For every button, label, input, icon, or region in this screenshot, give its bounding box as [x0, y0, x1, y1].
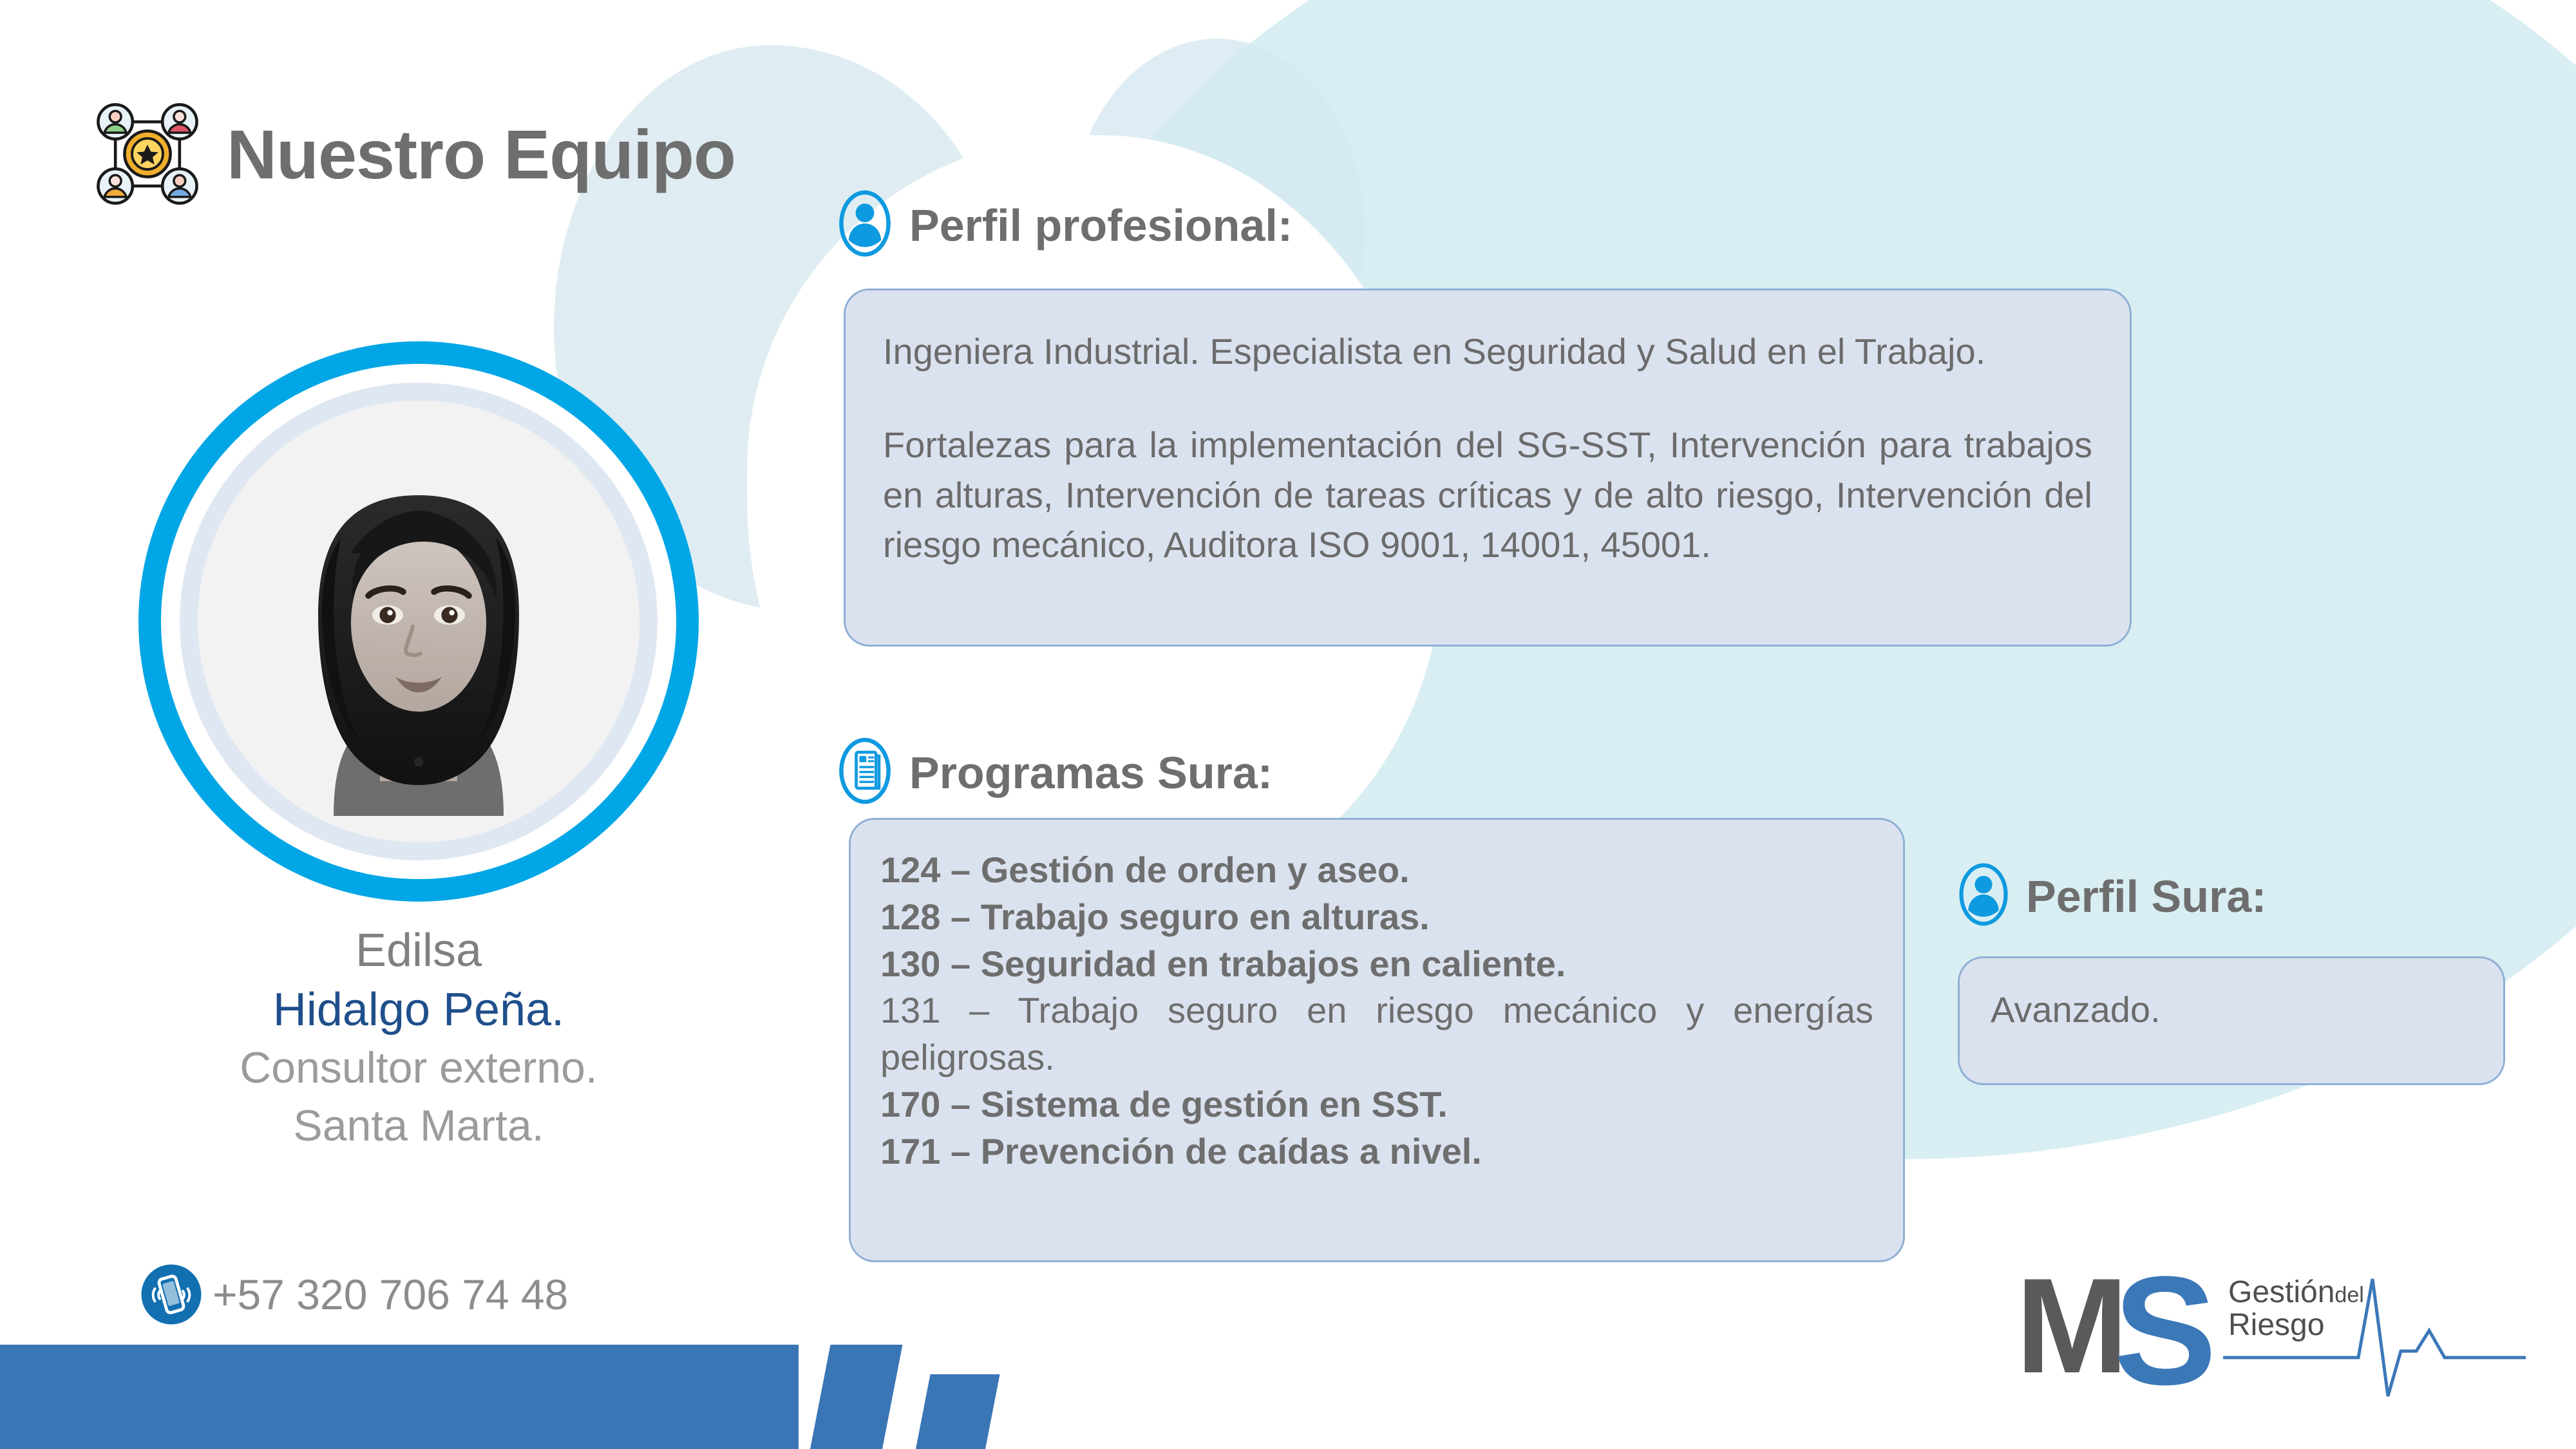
list-item: 170 – Sistema de gestión en SST. — [880, 1081, 1873, 1128]
list-item: 130 – Seguridad en trabajos en caliente. — [880, 941, 1873, 988]
person-first-name: Edilsa — [77, 921, 760, 980]
logo-line1-main: Gestión — [2228, 1275, 2334, 1309]
logo-line1-small: del — [2334, 1283, 2363, 1307]
section-heading-perfil-sura: Perfil Sura: — [1958, 863, 2266, 929]
list-item: 128 – Trabajo seguro en alturas. — [880, 894, 1873, 941]
logo-letter-m: M — [2016, 1258, 2122, 1394]
perfil-profesional-body: Ingeniera Industrial. Especialista en Se… — [883, 327, 2092, 569]
page-title: Nuestro Equipo — [227, 114, 735, 194]
logo-line-1: Gestióndel — [2228, 1276, 2364, 1309]
person-name-block: Edilsa Hidalgo Peña. Consultor externo. … — [77, 921, 760, 1155]
phone-number: +57 320 706 74 48 — [213, 1270, 568, 1319]
person-role: Consultor externo. — [77, 1039, 760, 1097]
card-perfil-sura: Avanzado. — [1958, 956, 2505, 1085]
company-logo: M S Gestióndel Riesgo — [2016, 1255, 2531, 1422]
list-item: 131 – Trabajo seguro en riesgo mecánico … — [880, 987, 1873, 1081]
avatar — [138, 341, 699, 902]
avatar-photo — [198, 401, 639, 842]
logo-line-2: Riesgo — [2228, 1309, 2364, 1342]
paragraph: Ingeniera Industrial. Especialista en Se… — [883, 327, 2092, 376]
footer-accent-bar-2 — [916, 1374, 1000, 1449]
perfil-sura-value: Avanzado. — [1991, 985, 2472, 1034]
avatar-ring-outer — [161, 364, 676, 879]
card-programas-sura: 124 – Gestión de orden y aseo. 128 – Tra… — [849, 818, 1905, 1262]
user-circle-icon — [1958, 863, 2009, 929]
team-network-icon — [90, 97, 205, 211]
list-item: 124 – Gestión de orden y aseo. — [880, 847, 1873, 894]
document-list-icon — [837, 737, 893, 808]
person-city: Santa Marta. — [77, 1097, 760, 1155]
card-perfil-profesional: Ingeniera Industrial. Especialista en Se… — [844, 289, 2132, 647]
section-heading-perfil-profesional: Perfil profesional: — [837, 190, 1293, 260]
avatar-ring-inner — [180, 383, 658, 860]
person-last-name: Hidalgo Peña. — [77, 980, 760, 1039]
logo-wordmark: Gestióndel Riesgo — [2228, 1276, 2364, 1342]
programas-list: 124 – Gestión de orden y aseo. 128 – Tra… — [880, 847, 1873, 1175]
paragraph: Fortalezas para la implementación del SG… — [883, 420, 2092, 569]
footer-band — [0, 1345, 799, 1449]
logo-letter-s: S — [2114, 1253, 2217, 1408]
mobile-vibrate-icon — [140, 1264, 202, 1325]
phone-row[interactable]: +57 320 706 74 48 — [140, 1264, 568, 1325]
footer-accent-bar-1 — [810, 1345, 902, 1449]
list-item: 171 – Prevención de caídas a nivel. — [880, 1128, 1873, 1175]
page-header: Nuestro Equipo — [90, 97, 735, 211]
section-heading-programas-sura: Programas Sura: — [837, 737, 1273, 808]
section-heading-label: Programas Sura: — [909, 747, 1273, 799]
section-heading-label: Perfil profesional: — [909, 200, 1293, 251]
section-heading-label: Perfil Sura: — [2026, 871, 2266, 922]
user-circle-icon — [837, 190, 893, 260]
